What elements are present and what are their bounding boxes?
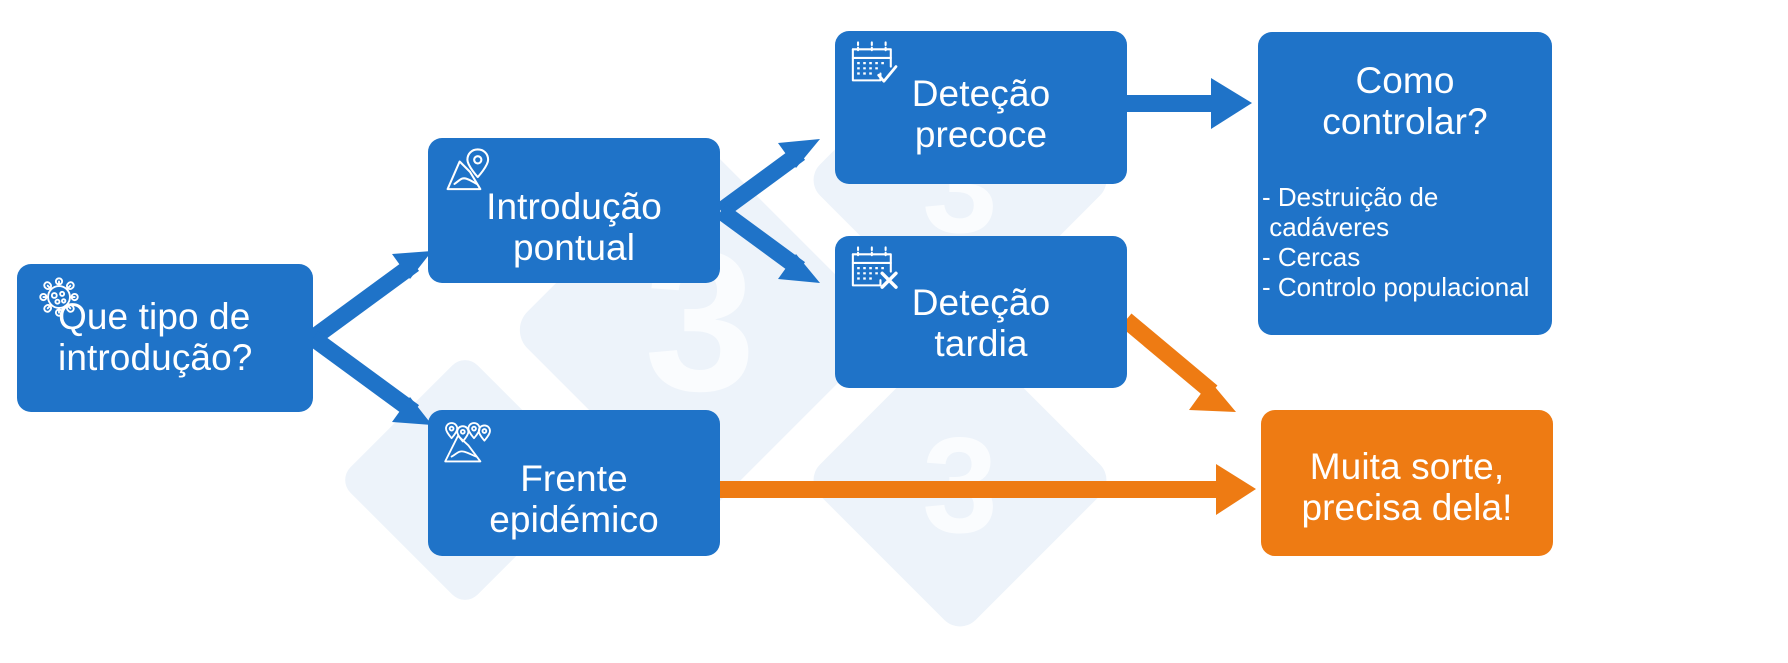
map-pin-icon bbox=[442, 146, 498, 196]
node-introducao-pontual[interactable]: Introdução pontual bbox=[428, 138, 720, 283]
list-item: - Destruição de bbox=[1262, 182, 1550, 212]
connector-tardia-to-muita-sorte bbox=[1126, 320, 1236, 412]
calendar-check-icon bbox=[849, 39, 905, 89]
node-que-tipo-de-introducao[interactable]: Que tipo de introdução? bbox=[17, 264, 313, 412]
node-detecao-tardia[interactable]: Deteção tardia bbox=[835, 236, 1127, 388]
connector-intro-pontual-to-precoce bbox=[721, 139, 820, 211]
node-title: Introdução pontual bbox=[428, 186, 720, 269]
node-como-controlar[interactable]: Como controlar? - Destruição de cadávere… bbox=[1258, 32, 1552, 335]
map-multi-pin-icon bbox=[442, 418, 498, 468]
connector-intro-pontual-to-tardia bbox=[721, 211, 820, 283]
node-title: Deteção tardia bbox=[835, 282, 1127, 365]
node-frente-epidemico[interactable]: Frente epidémico bbox=[428, 410, 720, 556]
list-item: - Controlo populacional bbox=[1262, 272, 1550, 302]
node-title: Frente epidémico bbox=[428, 458, 720, 541]
node-detecao-precoce[interactable]: Deteção precoce bbox=[835, 31, 1127, 184]
calendar-x-icon bbox=[849, 244, 905, 294]
node-title: Como controlar? bbox=[1268, 60, 1542, 143]
node-muita-sorte[interactable]: Muita sorte, precisa dela! bbox=[1261, 410, 1553, 556]
virus-icon bbox=[31, 272, 87, 322]
connector-question-to-frente bbox=[313, 338, 432, 425]
control-measures-list: - Destruição de cadáveres - Cercas - Con… bbox=[1262, 182, 1550, 303]
list-item: - Cercas bbox=[1262, 242, 1550, 272]
svg-text:3: 3 bbox=[922, 409, 998, 561]
flowchart-canvas: 3 3 3 bbox=[0, 0, 1788, 663]
node-title: Muita sorte, precisa dela! bbox=[1261, 446, 1553, 529]
connector-frente-to-muita-sorte bbox=[720, 464, 1256, 515]
list-item: cadáveres bbox=[1262, 212, 1550, 242]
connector-question-to-intro-pontual bbox=[313, 251, 432, 338]
